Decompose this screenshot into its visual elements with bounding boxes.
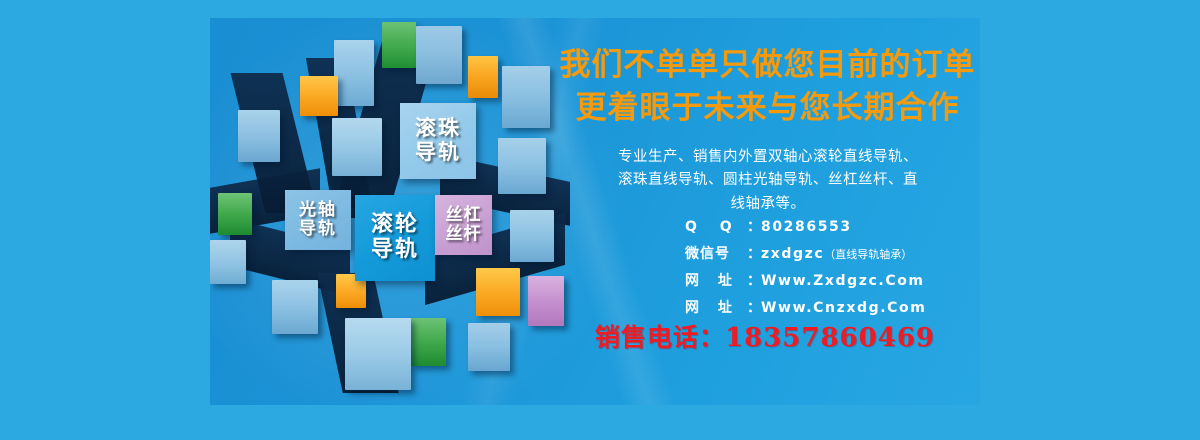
cube-blue-topright — [416, 26, 462, 84]
description-line-3: 线轴承等。 — [563, 193, 973, 216]
contact-label-website: 网 址 — [685, 270, 747, 290]
cube-blue-bottomleft — [272, 280, 318, 334]
contact-value-wechat[interactable]: zxdgzc — [761, 246, 824, 262]
exploding-cubes-graphic: 滚珠 导轨 光轴 导轨 滚轮 导轨 丝杠 丝杆 — [210, 18, 580, 405]
banner-text-column: 我们不单单只做您目前的订单 更着眼于未来与您长期合作 专业生产、销售内外置双轴心… — [555, 18, 980, 405]
contact-separator: ： — [747, 243, 761, 263]
page-root: 滚珠 导轨 光轴 导轨 滚轮 导轨 丝杠 丝杆 我们不单单只做您目前的订单 更着… — [0, 0, 1200, 440]
description: 专业生产、销售内外置双轴心滚轮直线导轨、 滚珠直线导轨、圆柱光轴导轨、丝杠丝杆、… — [563, 146, 973, 216]
tile-line-1: 丝杠 — [446, 206, 482, 225]
tile-line-2: 导轨 — [371, 238, 419, 263]
description-line-1: 专业生产、销售内外置双轴心滚轮直线导轨、 — [563, 146, 973, 169]
cube-blue-bottomcenter — [345, 318, 411, 390]
promo-banner: 滚珠 导轨 光轴 导轨 滚轮 导轨 丝杠 丝杆 我们不单单只做您目前的订单 更着… — [210, 18, 980, 405]
cube-green-top — [382, 22, 416, 68]
headline-line-1: 我们不单单只做您目前的订单 — [555, 44, 980, 87]
contact-value-website-1[interactable]: Www.Zxdgzc.Com — [761, 273, 925, 289]
contact-row-qq: Q Q ： 80286553 — [685, 216, 926, 236]
cube-orange-bottomright — [476, 268, 520, 316]
sales-phone-label: 销售电话： — [595, 323, 725, 352]
headline-line-2: 更着眼于未来与您长期合作 — [555, 87, 980, 130]
contact-block: Q Q ： 80286553 微信号 ： zxdgzc （直线导轨轴承） 网 址… — [685, 216, 926, 324]
cube-blue-right-upper — [502, 66, 550, 128]
product-tile-gunzhu-daogui[interactable]: 滚珠 导轨 — [400, 103, 476, 179]
sales-phone-number[interactable]: 18357860469 — [725, 323, 935, 353]
cube-blue-right-mid — [498, 138, 546, 194]
contact-row-wechat: 微信号 ： zxdgzc （直线导轨轴承） — [685, 243, 926, 263]
contact-row-website-2: 网 址 ： Www.Cnzxdg.Com — [685, 297, 926, 317]
cube-orange-left — [300, 76, 338, 116]
contact-separator: ： — [747, 216, 761, 236]
description-line-2: 滚珠直线导轨、圆柱光轴导轨、丝杠丝杆、直 — [563, 169, 973, 192]
contact-row-website-1: 网 址 ： Www.Zxdgzc.Com — [685, 270, 926, 290]
tile-line-1: 滚轮 — [371, 213, 419, 238]
tile-line-2: 丝杆 — [446, 225, 482, 244]
cube-blue-farleft — [210, 240, 246, 284]
cube-blue-midleft — [238, 110, 280, 162]
tile-line-1: 滚珠 — [415, 117, 461, 141]
tile-line-1: 光轴 — [299, 201, 337, 220]
sales-phone[interactable]: 销售电话：18357860469 — [595, 318, 935, 354]
cube-green-bottom — [410, 318, 446, 366]
contact-value-website-2[interactable]: Www.Cnzxdg.Com — [761, 300, 926, 316]
contact-separator: ： — [747, 297, 761, 317]
headline: 我们不单单只做您目前的订单 更着眼于未来与您长期合作 — [555, 44, 980, 130]
contact-label-website: 网 址 — [685, 297, 747, 317]
cube-orange-topright — [468, 56, 498, 98]
contact-note-wechat: （直线导轨轴承） — [824, 246, 912, 262]
cube-blue-center-upper — [332, 118, 382, 176]
product-tile-gunlun-daogui[interactable]: 滚轮 导轨 — [355, 195, 435, 281]
contact-separator: ： — [747, 270, 761, 290]
cube-blue-bottomright-far — [468, 323, 510, 371]
product-tile-sigang-sigan[interactable]: 丝杠 丝杆 — [435, 195, 492, 255]
contact-value-qq[interactable]: 80286553 — [761, 219, 852, 235]
cube-blue-topleft — [334, 40, 374, 106]
cube-blue-right-lower — [510, 210, 554, 262]
product-tile-guangzhou-daogui[interactable]: 光轴 导轨 — [285, 190, 351, 250]
tile-line-2: 导轨 — [415, 141, 461, 165]
contact-label-qq: Q Q — [685, 219, 747, 235]
tile-line-2: 导轨 — [299, 220, 337, 239]
contact-label-wechat: 微信号 — [685, 243, 747, 263]
cube-green-left — [218, 193, 252, 235]
